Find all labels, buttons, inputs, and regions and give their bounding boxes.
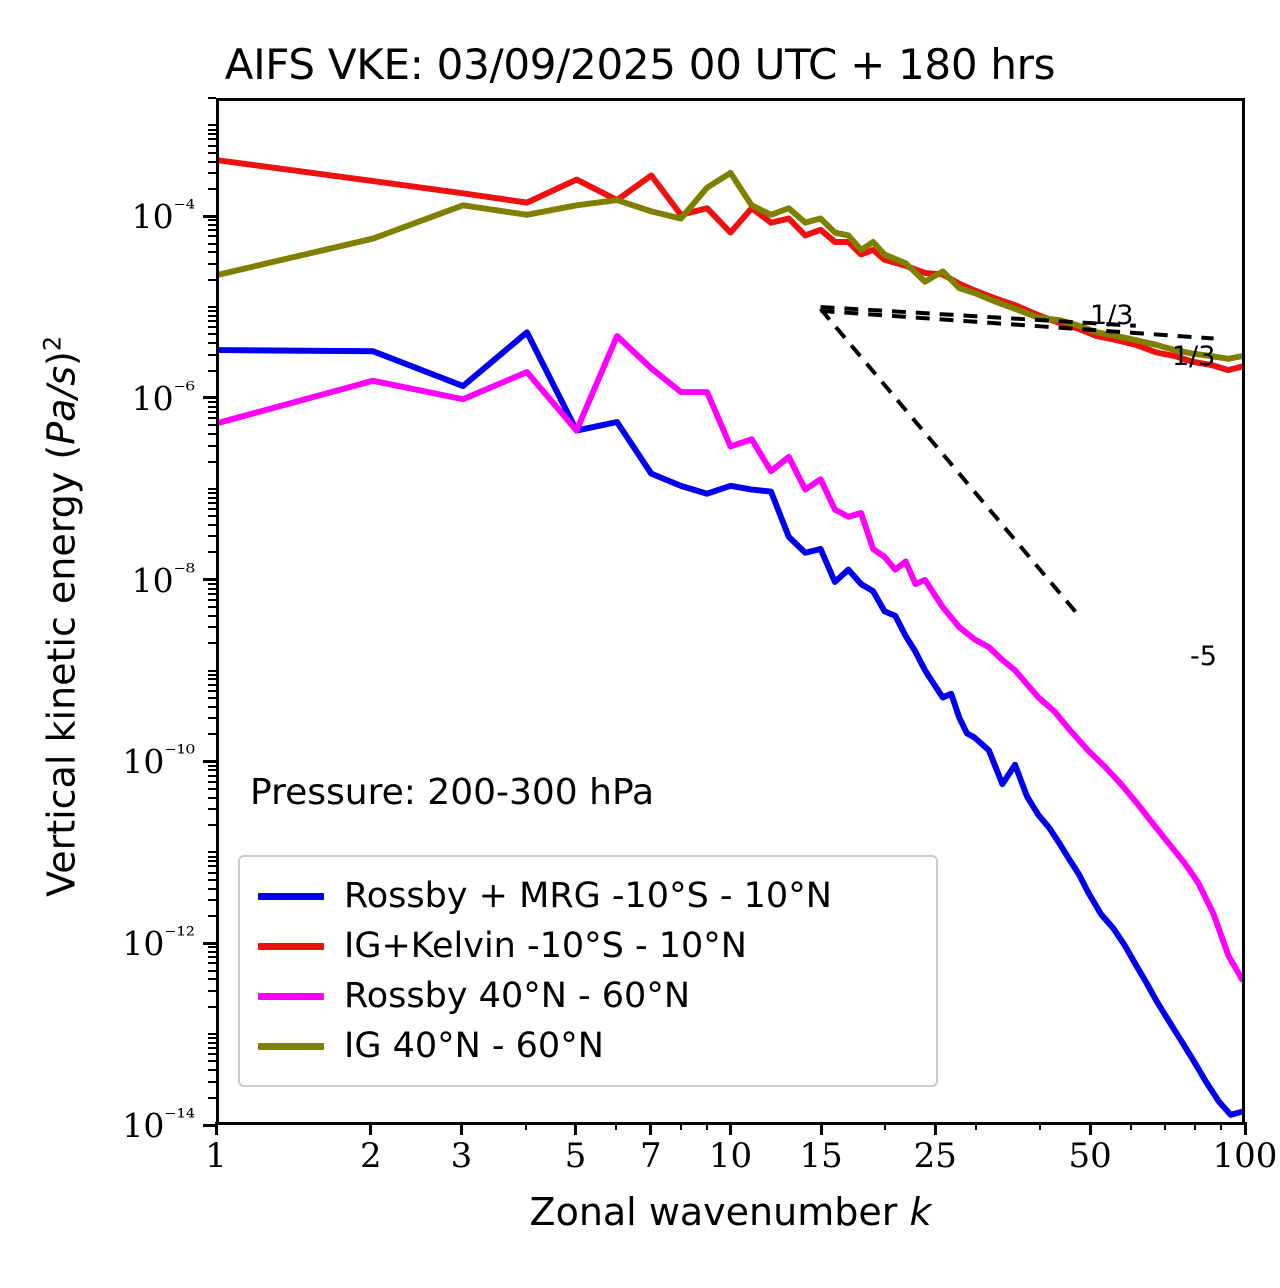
y-tick-minor (208, 145, 216, 147)
y-tick-minor (208, 606, 216, 608)
legend-item-3[interactable]: IG 40°N - 60°N (258, 1021, 918, 1071)
y-axis-label-exponent: 2 (39, 336, 67, 351)
y-tick-minor (208, 717, 216, 719)
y-tick-minor (208, 445, 216, 447)
y-tick-minor (208, 243, 216, 245)
y-tick-minor (208, 224, 216, 226)
reference-line-0 (821, 307, 1136, 326)
y-tick-minor (208, 642, 216, 644)
y-tick-minor (208, 860, 216, 862)
y-tick-major (203, 760, 216, 763)
y-tick-label: 10⁻⁴ (132, 196, 195, 236)
y-tick-label: 10⁻¹⁰ (122, 741, 195, 781)
y-tick-minor (208, 946, 216, 948)
y-tick-minor (208, 129, 216, 131)
y-tick-minor (208, 354, 216, 356)
legend-swatch-1 (258, 943, 324, 950)
y-tick-minor (208, 674, 216, 676)
y-tick-minor (208, 315, 216, 317)
x-axis-label-symbol: k (909, 1190, 931, 1234)
y-tick-minor (208, 492, 216, 494)
y-tick-minor (208, 990, 216, 992)
legend-label-3: IG 40°N - 60°N (344, 1029, 604, 1064)
y-tick-minor (208, 626, 216, 628)
y-tick-minor (208, 851, 216, 853)
y-tick-minor (208, 535, 216, 537)
y-tick-minor (208, 152, 216, 154)
y-tick-major (203, 578, 216, 581)
x-axis-label-text: Zonal wavenumber (530, 1190, 910, 1234)
y-tick-minor (208, 497, 216, 499)
legend-item-1[interactable]: IG+Kelvin -10°S - 10°N (258, 921, 918, 971)
y-tick-minor (208, 370, 216, 372)
legend: Rossby + MRG -10°S - 10°NIG+Kelvin -10°S… (238, 855, 938, 1087)
reference-line-1 (821, 311, 1214, 339)
x-tick-label: 2 (360, 1136, 382, 1176)
y-tick-minor (208, 670, 216, 672)
y-tick-minor (208, 599, 216, 601)
y-tick-minor (208, 411, 216, 413)
y-tick-minor (208, 502, 216, 504)
y-tick-minor (208, 219, 216, 221)
y-tick-minor (208, 684, 216, 686)
y-tick-minor (208, 333, 216, 335)
y-tick-minor (208, 1033, 216, 1035)
slope-annotation-0: 1/3 (1090, 300, 1133, 331)
page-title: AIFS VKE: 03/09/2025 00 UTC + 180 hrs (0, 40, 1280, 89)
y-tick-minor (208, 956, 216, 958)
legend-label-2: Rossby 40°N - 60°N (344, 979, 690, 1014)
y-tick-minor (208, 424, 216, 426)
legend-swatch-0 (258, 893, 324, 900)
y-tick-minor (208, 235, 216, 237)
series-line-1 (219, 160, 1242, 370)
y-tick-major (203, 942, 216, 945)
y-tick-minor (208, 124, 216, 126)
y-tick-minor (208, 1053, 216, 1055)
y-tick-minor (208, 417, 216, 419)
y-tick-minor (208, 433, 216, 435)
y-tick-minor (208, 788, 216, 790)
y-tick-minor (208, 263, 216, 265)
y-tick-minor (208, 588, 216, 590)
y-tick-major (203, 215, 216, 218)
y-tick-minor (208, 251, 216, 253)
y-tick-minor (208, 1037, 216, 1039)
y-tick-minor (208, 706, 216, 708)
y-tick-minor (208, 879, 216, 881)
y-tick-minor (208, 1042, 216, 1044)
y-tick-minor (208, 765, 216, 767)
y-tick-label: 10⁻⁶ (132, 378, 195, 418)
y-axis-label-prefix: Vertical kinetic energy ( (39, 445, 83, 897)
y-tick-minor (208, 865, 216, 867)
y-tick-minor (208, 406, 216, 408)
x-tick-label: 50 (1068, 1136, 1111, 1176)
y-tick-minor (208, 678, 216, 680)
y-tick-label: 10⁻¹⁴ (122, 1105, 195, 1145)
y-tick-minor (208, 970, 216, 972)
y-tick-label: 10⁻⁸ (132, 560, 195, 600)
slope-annotation-2: -5 (1190, 641, 1217, 672)
x-tick-label: 3 (451, 1136, 473, 1176)
x-tick-label: 25 (914, 1136, 957, 1176)
slope-annotation-1: 1/3 (1172, 341, 1215, 372)
y-tick-minor (208, 1069, 216, 1071)
y-tick-label: 10⁻¹² (122, 923, 195, 963)
y-tick-minor (208, 1060, 216, 1062)
y-tick-minor (208, 461, 216, 463)
legend-swatch-2 (258, 993, 324, 1000)
y-tick-minor (208, 524, 216, 526)
y-tick-minor (208, 733, 216, 735)
y-tick-minor (208, 172, 216, 174)
legend-label-0: Rossby + MRG -10°S - 10°N (344, 879, 832, 914)
y-tick-minor (208, 797, 216, 799)
y-tick-minor (208, 551, 216, 553)
x-tick-label: 1 (205, 1136, 227, 1176)
x-tick-label: 7 (640, 1136, 662, 1176)
legend-item-0[interactable]: Rossby + MRG -10°S - 10°N (258, 871, 918, 921)
y-tick-minor (208, 769, 216, 771)
y-tick-minor (208, 1081, 216, 1083)
y-tick-minor (208, 899, 216, 901)
y-tick-minor (208, 915, 216, 917)
y-tick-minor (208, 1047, 216, 1049)
x-axis-label: Zonal wavenumber k (216, 1190, 1245, 1234)
y-tick-minor (208, 138, 216, 140)
legend-item-2[interactable]: Rossby 40°N - 60°N (258, 971, 918, 1021)
legend-label-1: IG+Kelvin -10°S - 10°N (344, 929, 747, 964)
y-tick-minor (208, 133, 216, 135)
y-tick-minor (208, 1006, 216, 1008)
y-tick-minor (208, 326, 216, 328)
y-tick-minor (208, 978, 216, 980)
y-tick-minor (208, 306, 216, 308)
y-tick-minor (208, 401, 216, 403)
y-tick-minor (208, 824, 216, 826)
y-tick-minor (208, 342, 216, 344)
y-tick-minor (208, 508, 216, 510)
y-tick-minor (208, 808, 216, 810)
x-tick-label: 15 (799, 1136, 842, 1176)
x-tick-label: 10 (709, 1136, 752, 1176)
y-tick-minor (208, 856, 216, 858)
y-tick-minor (208, 690, 216, 692)
legend-swatch-3 (258, 1043, 324, 1050)
y-tick-minor (208, 697, 216, 699)
y-tick-minor (208, 320, 216, 322)
y-tick-minor (208, 888, 216, 890)
y-tick-minor (208, 951, 216, 953)
x-tick-label: 100 (1213, 1136, 1278, 1176)
y-tick-major (203, 396, 216, 399)
y-axis-label-suffix: ) (39, 351, 83, 366)
y-tick-minor (208, 593, 216, 595)
y-tick-minor (208, 188, 216, 190)
y-tick-minor (208, 615, 216, 617)
y-tick-minor (208, 310, 216, 312)
y-tick-minor (208, 962, 216, 964)
y-tick-minor (208, 279, 216, 281)
y-axis-label-unit: Pa/s (39, 366, 83, 445)
y-tick-minor (208, 161, 216, 163)
reference-line-2 (821, 309, 1079, 616)
y-tick-minor (208, 583, 216, 585)
x-tick-label: 5 (565, 1136, 587, 1176)
y-axis-label: Vertical kinetic energy (Pa/s)2 (39, 236, 84, 996)
y-tick-minor (208, 872, 216, 874)
y-tick-minor (208, 1097, 216, 1099)
y-tick-minor (208, 515, 216, 517)
y-tick-minor (208, 488, 216, 490)
y-tick-minor (208, 97, 216, 99)
y-tick-minor (208, 781, 216, 783)
y-tick-minor (208, 775, 216, 777)
pressure-annotation: Pressure: 200-300 hPa (250, 772, 654, 813)
chart-figure: AIFS VKE: 03/09/2025 00 UTC + 180 hrs Ve… (0, 0, 1280, 1288)
y-tick-minor (208, 229, 216, 231)
